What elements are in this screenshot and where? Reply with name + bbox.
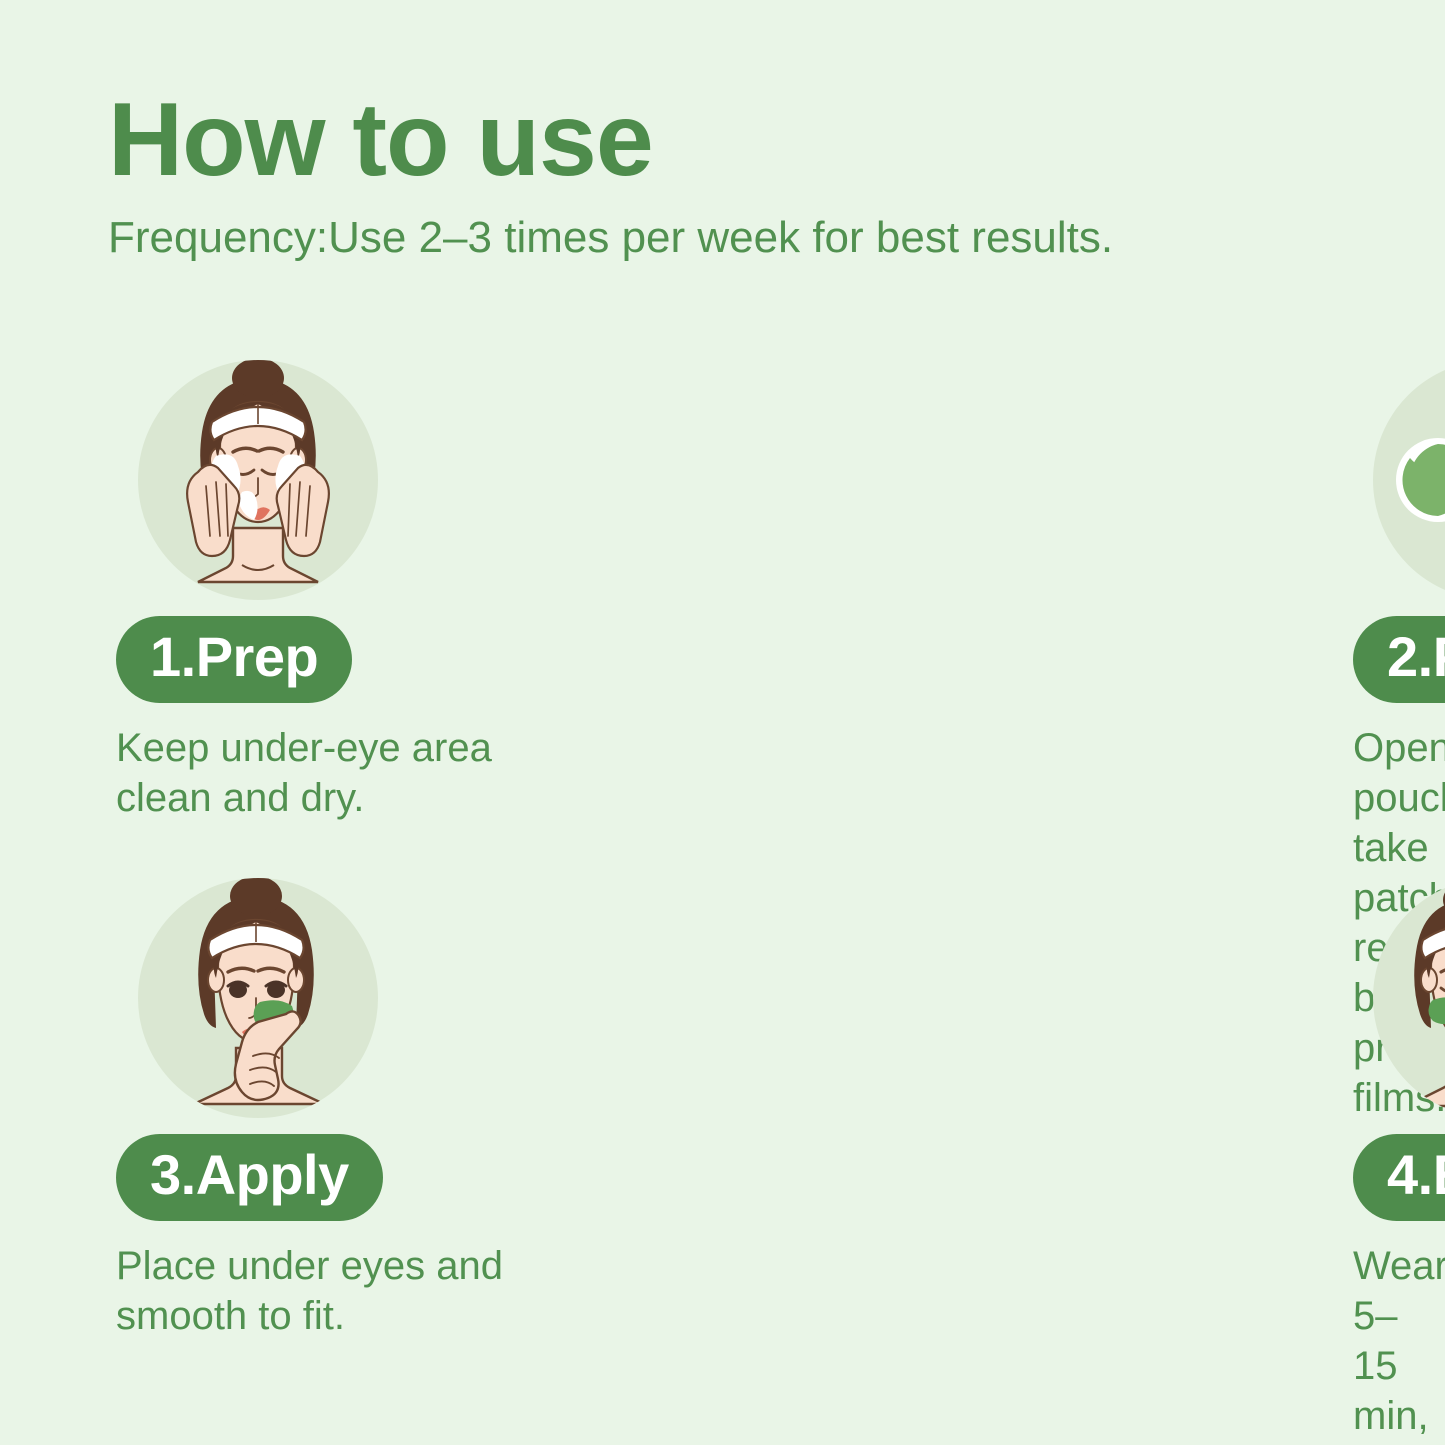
how-to-use-infographic: How to use Frequency:Use 2–3 times per w…: [0, 0, 1445, 1445]
step-caption-apply: Place under eyes and smooth to fit.: [116, 1241, 728, 1341]
frequency-subtitle: Frequency:Use 2–3 times per week for bes…: [108, 214, 1358, 262]
step-illustration-prep: [138, 360, 378, 600]
step-badge-peel[interactable]: 2.Peel: [1353, 616, 1445, 703]
step-badge-prep[interactable]: 1.Prep: [116, 616, 352, 703]
step-caption-prep: Keep under-eye area clean and dry.: [116, 723, 728, 823]
step-badge-apply[interactable]: 3.Apply: [116, 1134, 383, 1221]
steps-grid: 1.Prep Keep under-eye area clean and dry…: [0, 360, 1445, 1380]
step-illustration-apply: [138, 878, 378, 1118]
header: How to use Frequency:Use 2–3 times per w…: [108, 88, 1358, 262]
page-title: How to use: [108, 88, 1358, 192]
step-illustration-peel: [1373, 360, 1445, 600]
woman-washing-face-icon: [138, 360, 378, 600]
step-card-apply: 3.Apply Place under eyes and smooth to f…: [108, 870, 728, 1380]
step-card-peel: 2.Peel Open pouch, take patches, remove …: [728, 360, 1348, 870]
woman-applying-patch-icon: [138, 878, 378, 1118]
woman-wearing-patches-timer-icon: [1373, 878, 1445, 1118]
step-card-enjoy: 4.Enjoy Wear 5–15 min, remove, tap in re…: [728, 870, 1348, 1380]
step-badge-enjoy[interactable]: 4.Enjoy: [1353, 1134, 1445, 1221]
hand-holding-pouch-icon: [1373, 360, 1445, 600]
step-illustration-enjoy: [1373, 878, 1445, 1118]
step-card-prep: 1.Prep Keep under-eye area clean and dry…: [108, 360, 728, 870]
